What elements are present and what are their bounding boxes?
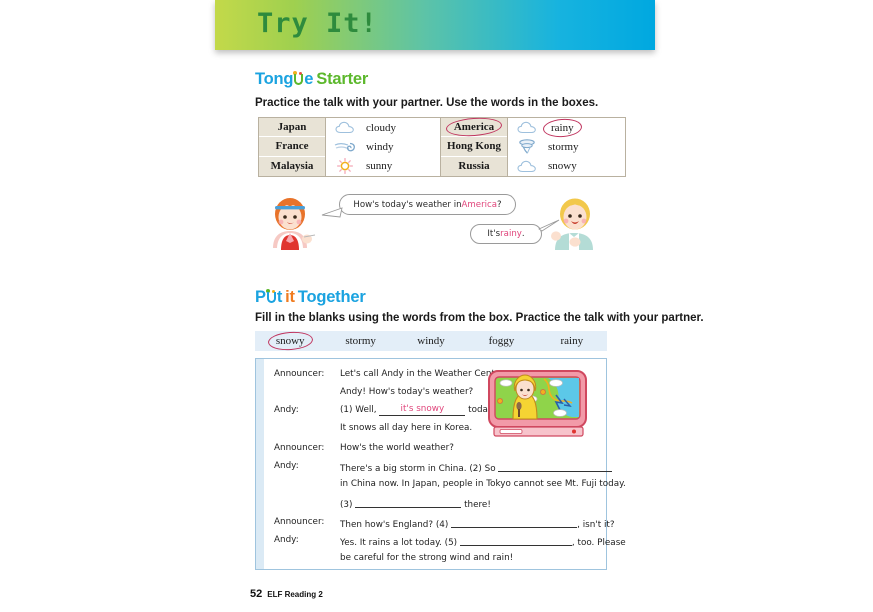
u-sprout-icon	[266, 289, 277, 304]
circled-answer-rainy: rainy	[548, 122, 577, 134]
table-left-weather: cloudy windy sunny	[325, 118, 443, 176]
heading-text-tongue: Tong	[255, 70, 293, 88]
page-number: 52	[250, 588, 262, 600]
dialogue-line: It snows all day here in Korea.	[340, 423, 472, 433]
heading-text-starter: Starter	[316, 70, 368, 88]
heading-text-together: Together	[298, 288, 366, 306]
answer-blank-5[interactable]	[460, 535, 572, 546]
table-row: snowy	[508, 157, 625, 176]
tornado-icon	[514, 139, 540, 154]
line10-post: , too. Please	[572, 538, 626, 548]
speech-bubble-reply: It's rainy.	[470, 224, 542, 244]
word-table-right: America Hong Kong Russia rainy stormy	[440, 117, 626, 177]
speaker-label: Announcer:	[274, 517, 324, 527]
table-right-weather: rainy stormy snowy	[507, 118, 625, 176]
weather-label: rainy	[548, 122, 577, 134]
word-bank-item: snowy	[255, 335, 325, 347]
table-row: Russia	[441, 157, 507, 176]
word-bank-item: foggy	[466, 335, 536, 347]
reply-text-post: .	[522, 229, 525, 239]
dialogue-line: Yes. It rains a lot today. (5) , too. Pl…	[340, 535, 626, 548]
question-text-post: ?	[497, 200, 502, 210]
bubble-tail-left	[321, 206, 343, 220]
weather-label: windy	[366, 141, 394, 153]
answer-blank-3[interactable]	[355, 497, 461, 508]
dialogue-line: be careful for the strong wind and rain!	[340, 553, 513, 563]
answer-blank-4[interactable]	[451, 517, 577, 528]
table-row: stormy	[508, 137, 625, 156]
u-sprout-icon	[293, 71, 304, 86]
dialogue-line: How's the world weather?	[340, 443, 454, 453]
handwritten-answer-1: it's snowy	[401, 404, 445, 414]
line10-pre: Yes. It rains a lot today. (5)	[340, 538, 457, 548]
dialogue-line: Let's call Andy in the Weather Center.	[340, 369, 506, 379]
line8-post: there!	[464, 500, 491, 510]
circled-answer-snowy: snowy	[273, 335, 308, 347]
line9-post: , isn't it?	[577, 520, 614, 530]
table-row: windy	[326, 137, 443, 156]
section-heading-tongue-starter: TongeStarter	[255, 70, 368, 89]
dialogue-illustration: How's today's weather in America? It's r…	[255, 188, 615, 260]
word-bank: snowy stormy windy foggy rainy	[255, 331, 607, 351]
cloud-icon	[332, 121, 358, 134]
speech-bubble-question: How's today's weather in America?	[339, 194, 516, 215]
circled-answer-america: America	[451, 121, 497, 133]
table-row: Hong Kong	[441, 137, 507, 156]
tv-weather-reporter	[486, 369, 591, 441]
banner-title: Try It!	[257, 8, 378, 39]
line3-pre: (1) Well,	[340, 405, 377, 415]
line6-pre: There's a big storm in China. (2) So	[340, 464, 496, 474]
line9-pre: Then how's England? (4)	[340, 520, 448, 530]
answer-blank-2[interactable]	[498, 461, 612, 472]
speaker-label: Announcer:	[274, 369, 324, 379]
page-banner: Try It!	[215, 0, 655, 50]
dialogue-line: There's a big storm in China. (2) So	[340, 461, 612, 474]
word-bank-item: stormy	[325, 335, 395, 347]
speaker-label: Andy:	[274, 535, 299, 545]
dialogue-line: (3) there!	[340, 497, 491, 510]
section1-instruction: Practice the talk with your partner. Use…	[255, 97, 598, 109]
table-row: sunny	[326, 157, 443, 176]
page-footer: 52 ELF Reading 2	[250, 588, 323, 600]
table-row: Japan	[259, 118, 325, 137]
table-row: France	[259, 137, 325, 156]
heading-text-e: e	[304, 70, 313, 88]
weather-label: snowy	[548, 160, 577, 172]
table-right-places: America Hong Kong Russia	[441, 118, 507, 176]
answer-blank-1[interactable]: it's snowy	[379, 405, 465, 416]
table-row: cloudy	[326, 118, 443, 137]
section2-instruction: Fill in the blanks using the words from …	[255, 312, 704, 324]
dialogue-transcript-box: Announcer: Let's call Andy in the Weathe…	[255, 358, 607, 570]
wind-swirl-icon	[332, 140, 358, 154]
sun-icon	[332, 158, 358, 174]
dialogue-line: Andy! How's today's weather?	[340, 387, 473, 397]
word-bank-item: windy	[396, 335, 466, 347]
heading-text-it: it	[285, 288, 295, 306]
table-row: Malaysia	[259, 157, 325, 176]
heading-text-p: P	[255, 288, 266, 306]
dialogue-line: Then how's England? (4) , isn't it?	[340, 517, 615, 530]
boy-character	[545, 192, 603, 254]
section-heading-put-it-together: PtitTogether	[255, 288, 366, 307]
book-title: ELF Reading 2	[267, 590, 323, 599]
cloud-icon	[514, 160, 540, 173]
table-left-places: Japan France Malaysia	[259, 118, 325, 176]
table-row: rainy	[508, 118, 625, 137]
speaker-label: Announcer:	[274, 443, 324, 453]
speaker-label: Andy:	[274, 405, 299, 415]
cloud-icon	[514, 121, 540, 134]
question-answer: America	[462, 200, 497, 210]
table-row: America	[441, 118, 507, 137]
speaker-label: Andy:	[274, 461, 299, 471]
weather-label: cloudy	[366, 122, 396, 134]
heading-text-t: t	[277, 288, 282, 306]
weather-label: sunny	[366, 160, 392, 172]
line8-pre: (3)	[340, 500, 352, 510]
word-bank-item: rainy	[537, 335, 607, 347]
reply-answer: rainy	[500, 229, 522, 239]
question-text-pre: How's today's weather in	[353, 200, 461, 210]
weather-label: stormy	[548, 141, 579, 153]
word-table-left: Japan France Malaysia cloudy windy	[258, 117, 444, 177]
dialogue-line: in China now. In Japan, people in Tokyo …	[340, 479, 626, 489]
reply-text-pre: It's	[487, 229, 500, 239]
dialogue-line: (1) Well, it's snowy today.	[340, 405, 495, 416]
girl-character	[263, 192, 321, 254]
